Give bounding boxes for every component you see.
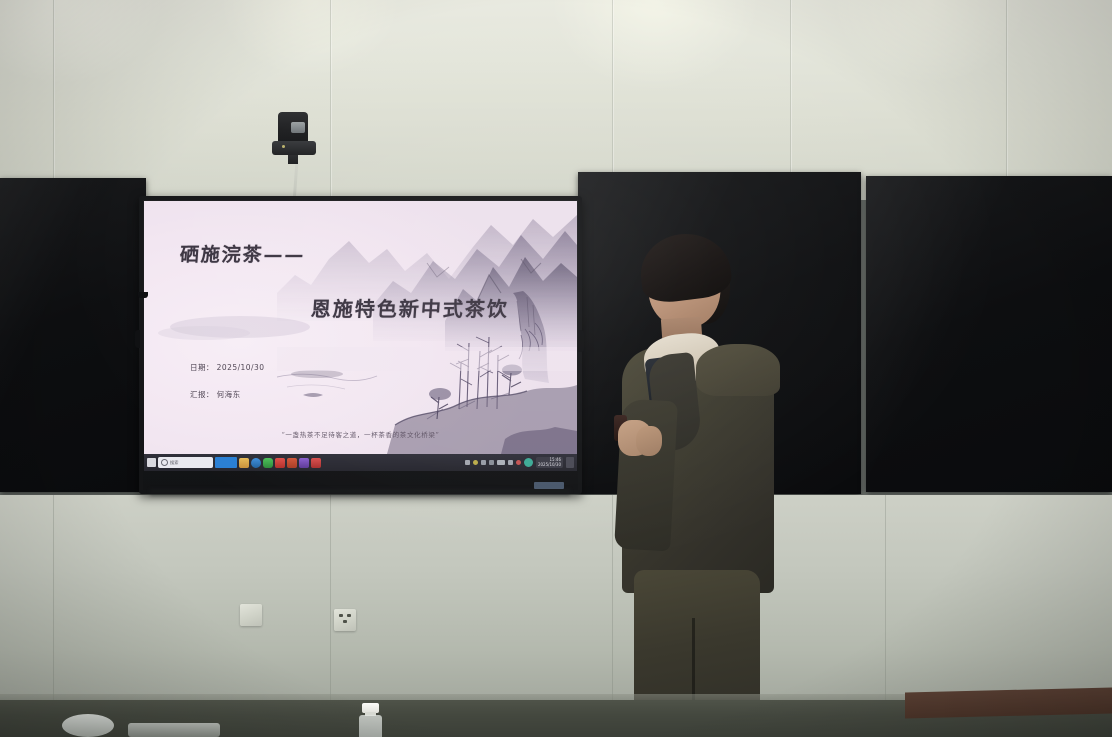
blank-wall-plate [240, 604, 262, 626]
upper-wall [0, 0, 1112, 200]
shoulder [696, 344, 780, 396]
desk-object-left [62, 714, 114, 737]
bottle-body [359, 715, 382, 737]
display-shadow [150, 489, 570, 498]
desk-paper [128, 723, 220, 737]
ptz-camera-icon [272, 112, 316, 164]
display-left-button[interactable] [135, 330, 140, 348]
display-bezel [139, 196, 582, 494]
camera-mount [272, 141, 316, 155]
interactive-display[interactable]: 硒施浣茶—— 恩施特色新中式茶饮 日期： 2025/10/30 汇报： 何海东 … [139, 196, 582, 494]
blackboard-right [866, 176, 1112, 492]
blackboard-left [0, 178, 146, 492]
classroom-scene: 硒施浣茶—— 恩施特色新中式茶饮 日期： 2025/10/30 汇报： 何海东 … [0, 0, 1112, 737]
display-brand-logo [534, 482, 564, 489]
power-outlet[interactable] [334, 609, 356, 631]
camera-led-icon [282, 145, 285, 148]
camera-stem [288, 154, 298, 164]
camera-body [278, 112, 308, 144]
lower-wall [0, 495, 1112, 710]
presenter-person [600, 230, 840, 737]
display-bottom-sensor-icon [138, 292, 148, 298]
camera-lens [291, 122, 305, 133]
display-right-button[interactable] [578, 330, 584, 352]
hand-right [636, 426, 662, 456]
water-bottle[interactable] [358, 703, 383, 737]
desk-wood-trim [905, 687, 1112, 718]
